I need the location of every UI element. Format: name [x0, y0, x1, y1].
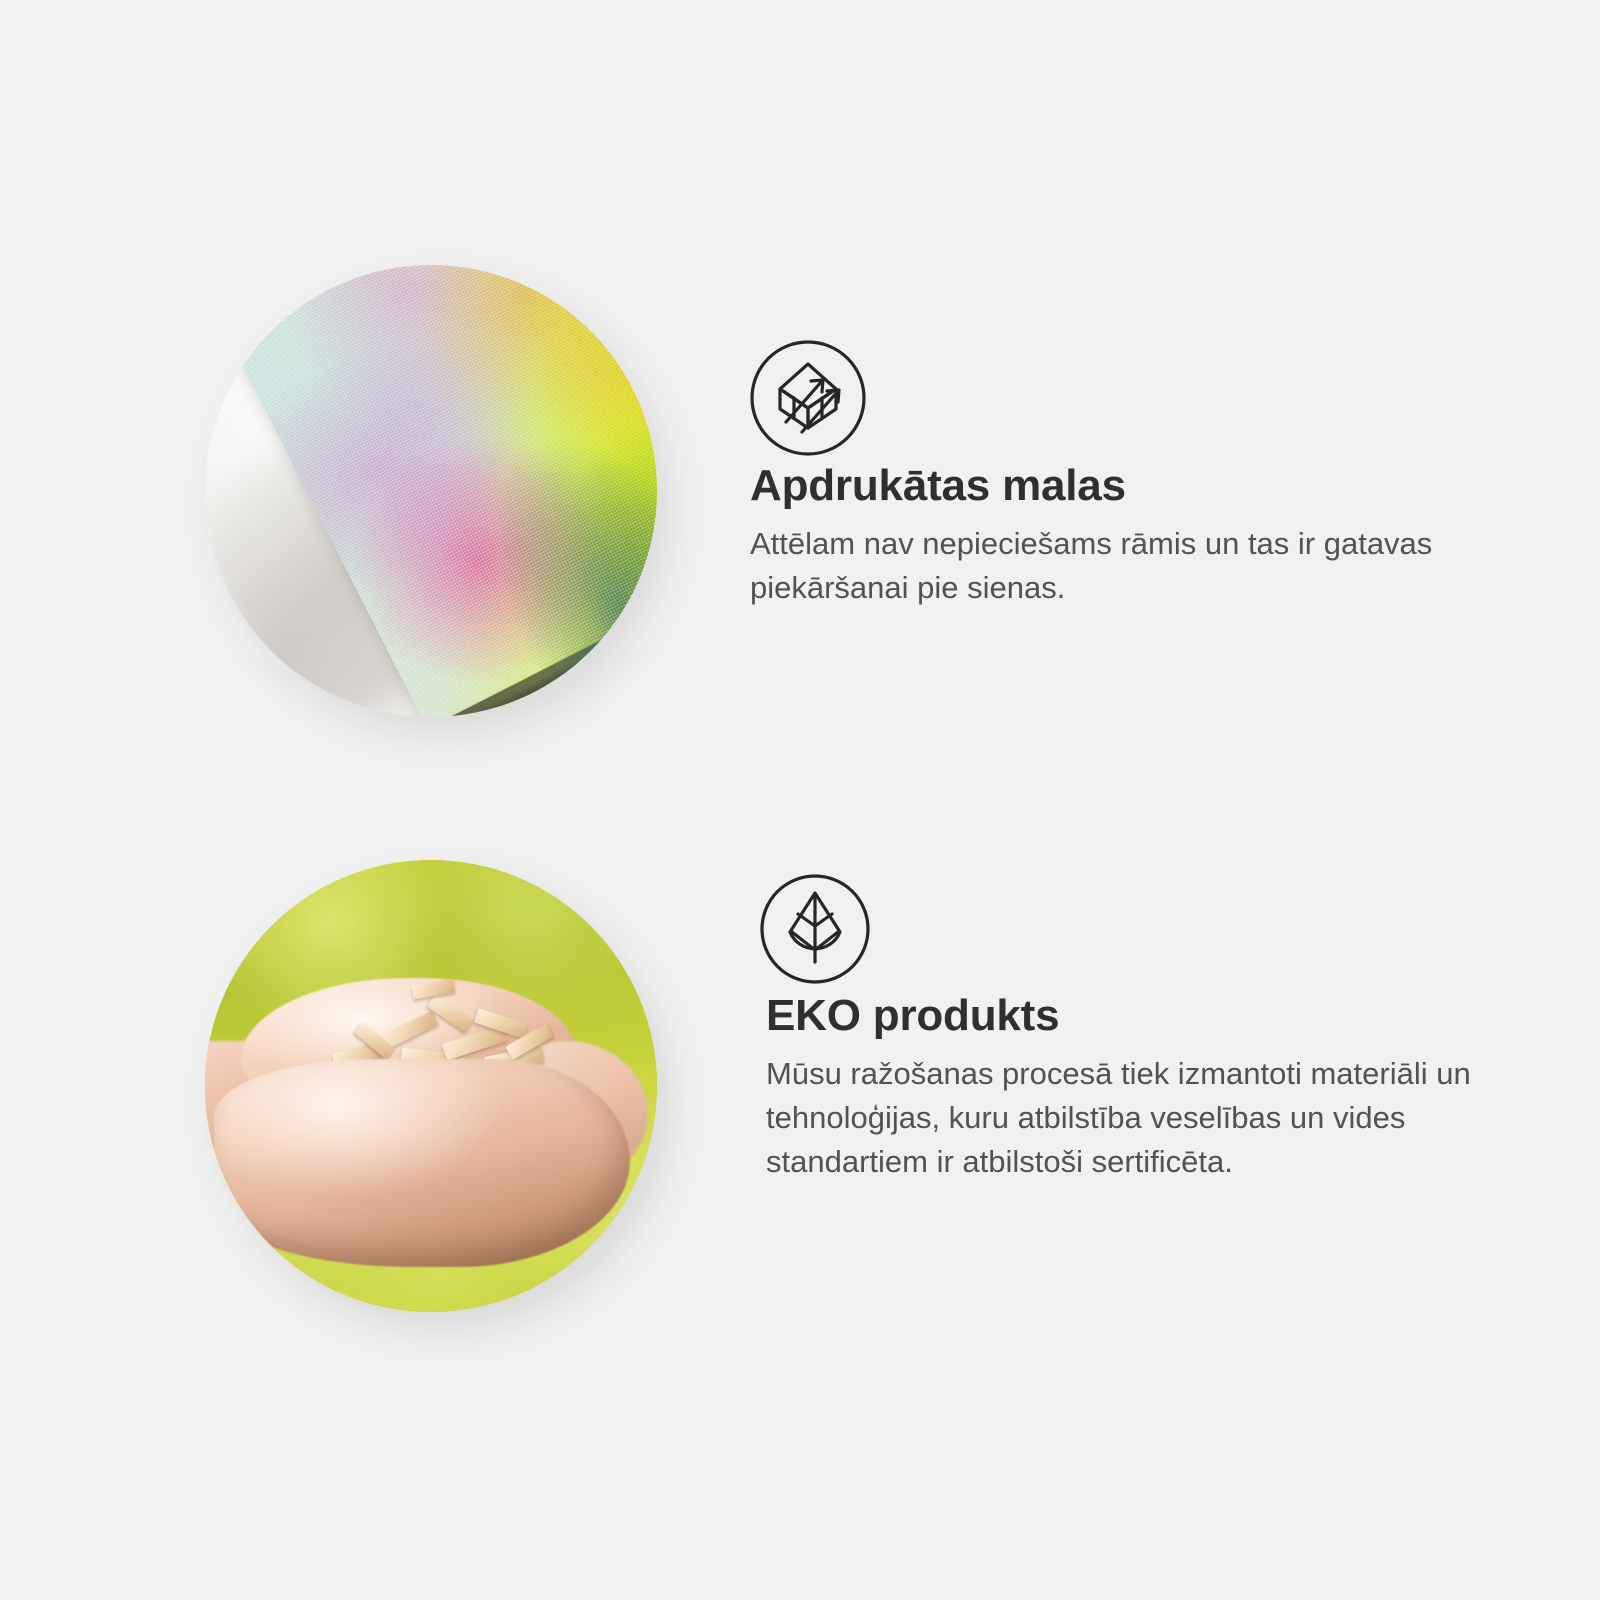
eco-text-block: EKO produkts Mūsu ražošanas procesā tiek…: [766, 992, 1496, 1184]
eco-photo-lower-hand: [214, 1059, 630, 1267]
feature-title-eco: EKO produkts: [766, 992, 1496, 1040]
canvas-corner-photo: [205, 265, 657, 717]
feature-description-printed-edges: Attēlam nav nepieciešams rāmis un tas ir…: [750, 522, 1470, 610]
feature-title-printed-edges: Apdrukātas malas: [750, 462, 1480, 510]
printed-canvas-edge-icon: [750, 340, 866, 456]
printed-edges-text-block: Apdrukātas malas Attēlam nav nepieciešam…: [750, 462, 1480, 610]
leaf-icon: [760, 874, 870, 984]
product-features-page: Apdrukātas malas Attēlam nav nepieciešam…: [0, 0, 1600, 1600]
wood-chips-in-hands-photo: [205, 860, 657, 1312]
feature-description-eco: Mūsu ražošanas procesā tiek izmantoti ma…: [766, 1052, 1486, 1184]
